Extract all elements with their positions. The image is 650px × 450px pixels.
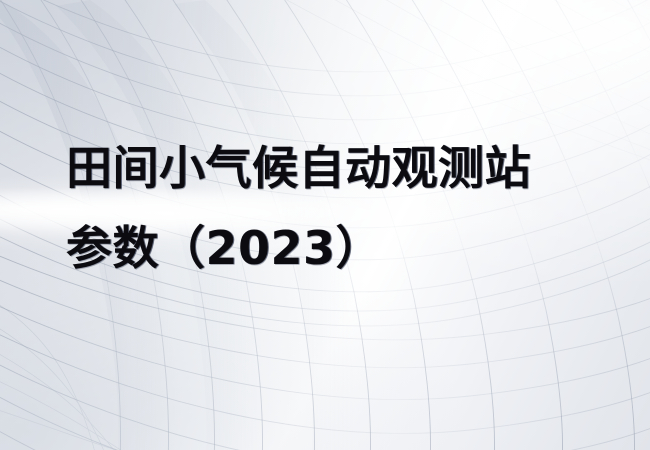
title-block: 田间小气候自动观测站 参数（2023）	[66, 128, 586, 288]
title-line-2: 参数（2023）	[66, 208, 586, 288]
title-banner: 田间小气候自动观测站 参数（2023）	[0, 0, 650, 450]
title-line-1: 田间小气候自动观测站	[66, 128, 586, 208]
